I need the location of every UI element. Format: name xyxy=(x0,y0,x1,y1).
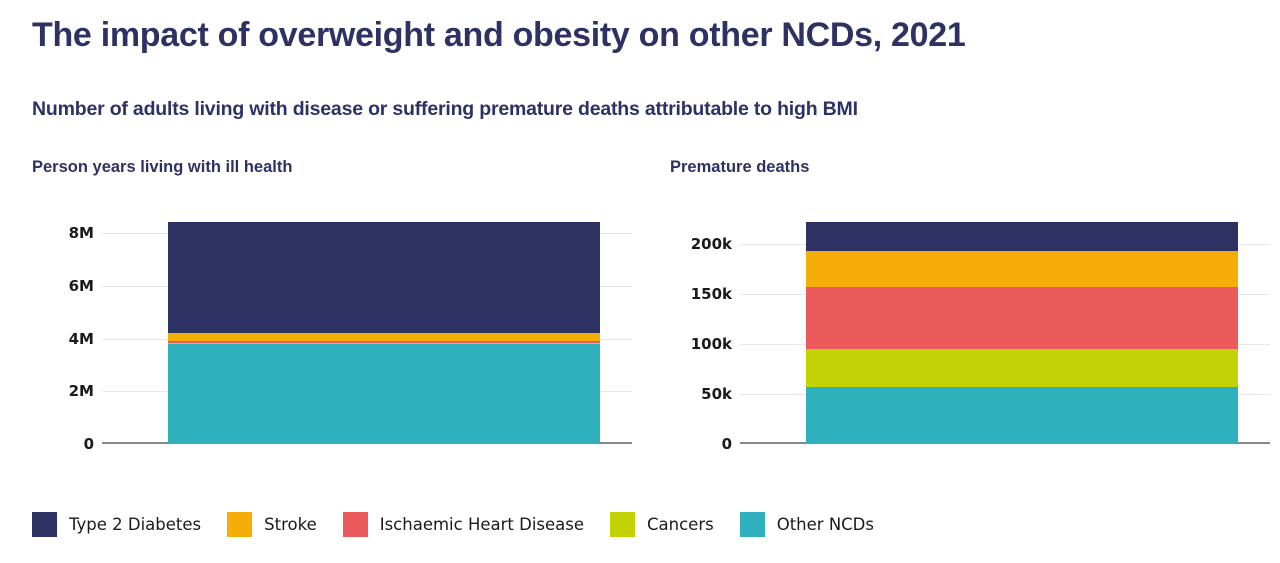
y-axis-tick-label: 0 xyxy=(722,435,732,453)
bar-segment-type-2-diabetes[interactable] xyxy=(806,222,1238,251)
bar-segment-ischaemic-heart-disease[interactable] xyxy=(806,287,1238,349)
legend-item-type-2-diabetes[interactable]: Type 2 Diabetes xyxy=(32,512,201,537)
page-title: The impact of overweight and obesity on … xyxy=(32,16,966,55)
legend-label: Other NCDs xyxy=(777,515,874,534)
chart-title-person-years: Person years living with ill health xyxy=(32,158,292,177)
bar-segment-cancers[interactable] xyxy=(168,343,600,344)
plot-area-person-years: 02M4M6M8M xyxy=(32,212,632,482)
legend-swatch-icon xyxy=(227,512,252,537)
legend-item-cancers[interactable]: Cancers xyxy=(610,512,714,537)
legend-label: Cancers xyxy=(647,515,714,534)
page-subtitle: Number of adults living with disease or … xyxy=(32,98,858,121)
chart-title-premature-deaths: Premature deaths xyxy=(670,158,809,177)
bar-segment-cancers[interactable] xyxy=(806,349,1238,387)
y-axis-tick-label: 6M xyxy=(69,277,94,295)
legend-label: Type 2 Diabetes xyxy=(69,515,201,534)
plot-box-person-years: 02M4M6M8M xyxy=(102,212,632,444)
legend-label: Ischaemic Heart Disease xyxy=(380,515,584,534)
bar-segment-stroke[interactable] xyxy=(168,333,600,341)
legend-swatch-icon xyxy=(343,512,368,537)
chart-panel-premature-deaths: Premature deaths 050k100k150k200k xyxy=(670,150,1270,490)
y-axis-tick-label: 4M xyxy=(69,330,94,348)
legend-swatch-icon xyxy=(32,512,57,537)
legend-swatch-icon xyxy=(610,512,635,537)
plot-area-premature-deaths: 050k100k150k200k xyxy=(670,212,1270,482)
chart-page: The impact of overweight and obesity on … xyxy=(0,0,1280,563)
y-axis-tick-label: 0 xyxy=(84,435,94,453)
legend-item-ischaemic-heart-disease[interactable]: Ischaemic Heart Disease xyxy=(343,512,584,537)
chart-panel-person-years: Person years living with ill health 02M4… xyxy=(32,150,632,490)
y-axis-tick-label: 8M xyxy=(69,224,94,242)
legend-label: Stroke xyxy=(264,515,317,534)
y-axis-tick-label: 50k xyxy=(701,385,732,403)
y-axis-tick-label: 150k xyxy=(691,285,732,303)
y-axis-tick-label: 100k xyxy=(691,335,732,353)
bar-segment-other-ncds[interactable] xyxy=(806,387,1238,444)
stacked-bar[interactable] xyxy=(806,222,1238,444)
legend-item-other-ncds[interactable]: Other NCDs xyxy=(740,512,874,537)
bar-segment-stroke[interactable] xyxy=(806,251,1238,287)
bar-segment-other-ncds[interactable] xyxy=(168,344,600,444)
legend-swatch-icon xyxy=(740,512,765,537)
stacked-bar[interactable] xyxy=(168,222,600,444)
y-axis-tick-label: 2M xyxy=(69,382,94,400)
legend-item-stroke[interactable]: Stroke xyxy=(227,512,317,537)
plot-box-premature-deaths: 050k100k150k200k xyxy=(740,212,1270,444)
bar-segment-type-2-diabetes[interactable] xyxy=(168,222,600,333)
bar-segment-ischaemic-heart-disease[interactable] xyxy=(168,341,600,343)
chart-legend: Type 2 DiabetesStrokeIschaemic Heart Dis… xyxy=(32,512,900,537)
y-axis-tick-label: 200k xyxy=(691,235,732,253)
